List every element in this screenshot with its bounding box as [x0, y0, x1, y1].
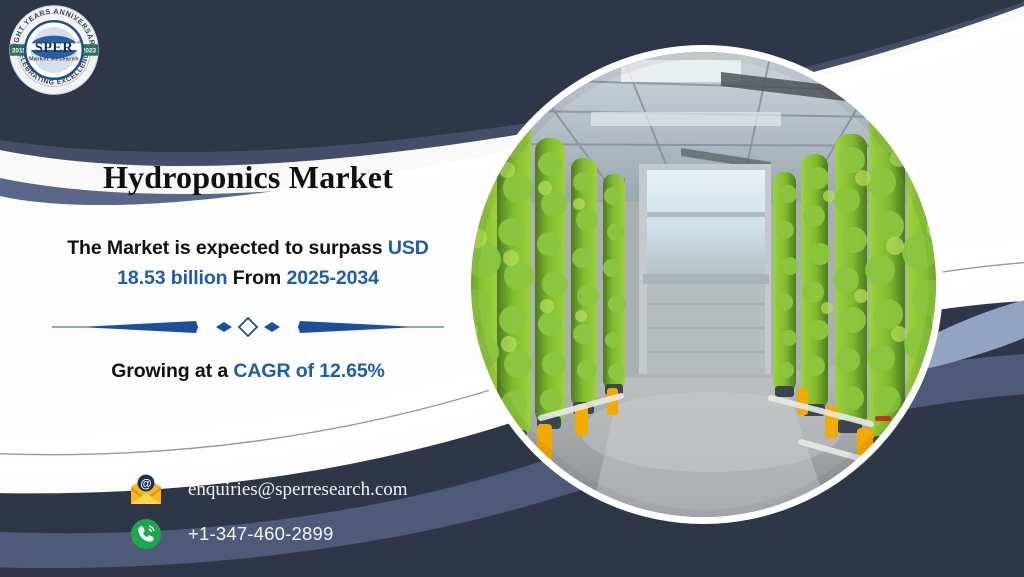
phone-call-icon: [126, 515, 166, 553]
svg-text:@: @: [140, 478, 151, 490]
envelope-at-icon: @: [126, 471, 166, 509]
hydroponic-farm-photo: [471, 52, 936, 517]
sper-logo-badge[interactable]: EIGHT YEARS ANNIVERSARY CELEBRATING EXCE…: [6, 2, 102, 98]
logo-wordmark: SPER: [35, 40, 74, 56]
contact-row-email[interactable]: @ enquiries@sperresearch.com: [126, 468, 546, 512]
cagr-statement: Growing at a CAGR of 12.65%: [28, 360, 468, 383]
ornament-divider-wrap: [28, 316, 468, 338]
email-address[interactable]: enquiries@sperresearch.com: [166, 479, 408, 501]
forecast-period: 2025-2034: [286, 267, 378, 289]
year-end-label: 2023: [82, 47, 97, 54]
cagr-value: CAGR of 12.65%: [233, 360, 384, 382]
report-text-column: Hydroponics Market The Market is expecte…: [28, 160, 468, 383]
contact-row-phone[interactable]: +1-347-460-2899: [126, 512, 546, 556]
phone-number[interactable]: +1-347-460-2899: [166, 523, 333, 545]
logo-tagline: Market Research: [29, 57, 79, 63]
page-title: Hydroponics Market: [28, 160, 468, 195]
contact-details: @ enquiries@sperresearch.com +1-347-460-…: [126, 468, 546, 556]
market-value-statement: The Market is expected to surpass USD 18…: [42, 233, 454, 293]
subtitle-connector: From: [227, 267, 286, 289]
subtitle-lead: The Market is expected to surpass: [67, 237, 388, 259]
cagr-lead: Growing at a: [111, 360, 233, 382]
diamond-ornament-divider: [48, 316, 448, 338]
infographic-banner: EIGHT YEARS ANNIVERSARY CELEBRATING EXCE…: [0, 0, 1024, 577]
